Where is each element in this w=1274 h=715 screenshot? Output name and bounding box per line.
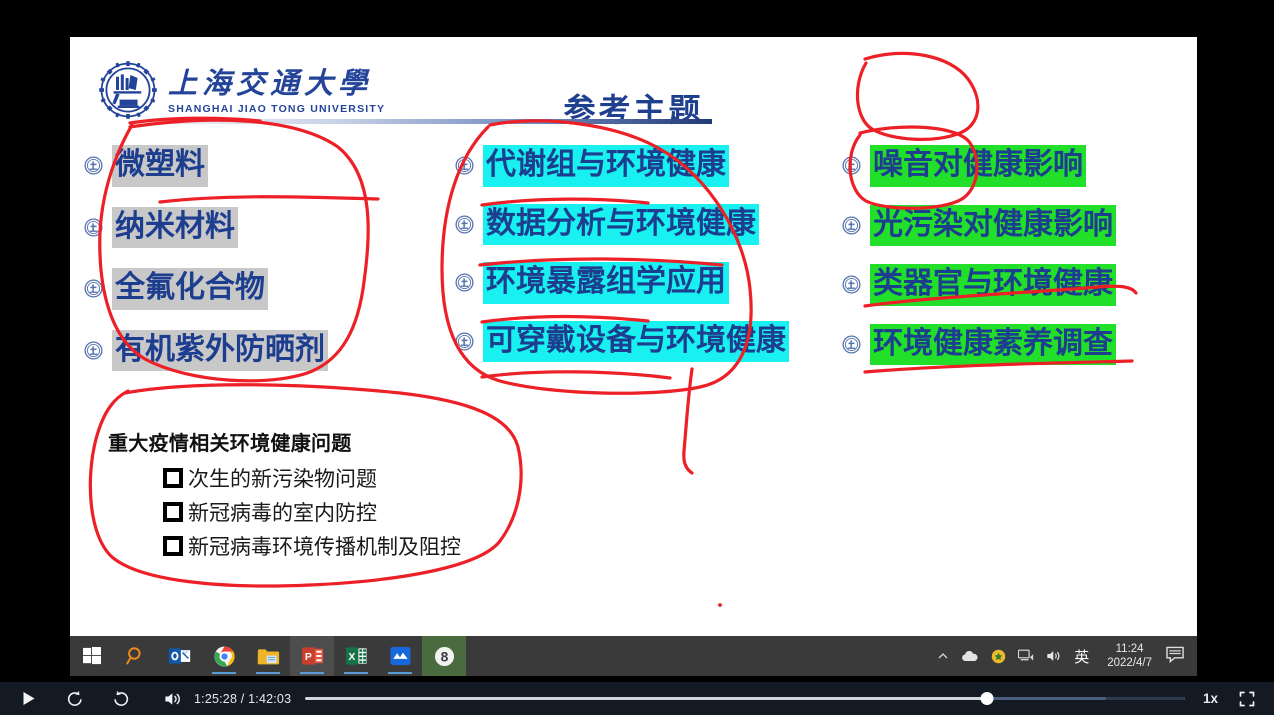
topic-item[interactable]: 纳米材料	[84, 207, 414, 249]
network-icon	[1018, 649, 1034, 663]
search-button[interactable]	[114, 636, 158, 676]
file-explorer-button[interactable]	[246, 636, 290, 676]
mountain-app-icon	[390, 646, 411, 666]
topic-label: 全氟化合物	[112, 268, 268, 310]
svg-text:X: X	[348, 652, 355, 663]
sjtu-bullet-icon	[842, 335, 861, 354]
topic-label: 有机紫外防晒剂	[112, 330, 328, 372]
forward-10-button[interactable]	[106, 684, 136, 714]
tray-overflow-button[interactable]	[937, 650, 949, 662]
video-player-page: 上海交通大學 SHANGHAI JIAO TONG UNIVERSITY 参考主…	[0, 0, 1274, 715]
clock-time: 11:24	[1107, 642, 1152, 656]
topic-item[interactable]: 光污染对健康影响	[842, 205, 1192, 247]
topic-item[interactable]: 环境健康素养调查	[842, 324, 1192, 366]
sjtu-bullet-icon	[84, 156, 103, 175]
onedrive-button[interactable]	[961, 650, 979, 663]
play-icon	[22, 691, 36, 706]
forward-icon	[112, 690, 130, 708]
topic-column-middle: 代谢组与环境健康 数据分析与环境健康 环境暴露组学应用 可穿戴设备与环境健康	[455, 145, 835, 379]
topic-label: 类器官与环境健康	[870, 264, 1116, 306]
network-button[interactable]	[1018, 649, 1034, 663]
windows-taskbar: P X	[70, 636, 1197, 676]
wps-button[interactable]	[378, 636, 422, 676]
presentation-slide: 上海交通大學 SHANGHAI JIAO TONG UNIVERSITY 参考主…	[70, 37, 1197, 636]
sjtu-bullet-icon	[84, 341, 103, 360]
video-player-controls: 1:25:28 / 1:42:03 1x	[0, 682, 1274, 715]
topic-item[interactable]: 环境暴露组学应用	[455, 262, 835, 304]
sjtu-bullet-icon	[455, 215, 474, 234]
block-heading: 重大疫情相关环境健康问题	[108, 427, 548, 456]
excel-icon: X	[346, 646, 367, 666]
checklist-label: 新冠病毒环境传播机制及阻控	[188, 531, 461, 561]
action-center-icon	[1166, 646, 1185, 663]
topic-item[interactable]: 有机紫外防晒剂	[84, 330, 414, 372]
checklist-label: 新冠病毒的室内防控	[188, 497, 377, 527]
sjtu-bullet-icon	[842, 275, 861, 294]
svg-text:8: 8	[440, 648, 448, 664]
topic-item[interactable]: 数据分析与环境健康	[455, 204, 835, 246]
volume-button[interactable]	[1046, 649, 1062, 663]
progress-track-buffered	[987, 697, 1106, 700]
search-icon	[126, 646, 146, 666]
cloud-icon	[961, 650, 979, 663]
chevron-up-icon	[937, 650, 949, 662]
windows-logo-icon	[83, 647, 101, 665]
topic-label: 环境健康素养调查	[870, 324, 1116, 366]
checkbox-icon	[163, 502, 183, 522]
checklist-item[interactable]: 新冠病毒的室内防控	[163, 497, 548, 527]
checklist-item[interactable]: 次生的新污染物问题	[163, 463, 548, 493]
folder-icon	[257, 647, 280, 666]
svg-text:P: P	[304, 652, 311, 663]
topic-item[interactable]: 类器官与环境健康	[842, 264, 1192, 306]
fullscreen-icon	[1239, 691, 1255, 707]
progress-scrubber[interactable]	[305, 684, 1185, 714]
ime-indicator[interactable]: 英	[1074, 646, 1089, 667]
topic-item[interactable]: 全氟化合物	[84, 268, 414, 310]
topic-label: 噪音对健康影响	[870, 145, 1086, 187]
rewind-10-button[interactable]	[60, 684, 90, 714]
volume-icon	[164, 691, 182, 707]
topic-label: 光污染对健康影响	[870, 205, 1116, 247]
update-icon	[991, 649, 1006, 664]
play-button[interactable]	[14, 684, 44, 714]
checkbox-icon	[163, 468, 183, 488]
progress-handle[interactable]	[981, 692, 994, 705]
sjtu-bullet-icon	[84, 279, 103, 298]
slide-title: 参考主题	[70, 85, 1197, 131]
number-eight-icon: 8	[434, 646, 455, 667]
update-button[interactable]	[991, 649, 1006, 664]
pandemic-topics-block: 重大疫情相关环境健康问题 次生的新污染物问题 新冠病毒的室内防控 新冠病毒环境传…	[108, 427, 548, 565]
header-divider	[132, 119, 712, 124]
clock[interactable]: 11:24 2022/4/7	[1107, 642, 1152, 670]
sjtu-bullet-icon	[455, 156, 474, 175]
checklist-label: 次生的新污染物问题	[188, 463, 377, 493]
time-display: 1:25:28 / 1:42:03	[194, 692, 291, 706]
system-tray: 英 11:24 2022/4/7	[931, 636, 1197, 676]
rewind-icon	[66, 690, 84, 708]
topic-label: 微塑料	[112, 145, 208, 187]
volume-icon	[1046, 649, 1062, 663]
volume-button[interactable]	[158, 684, 188, 714]
chrome-icon	[214, 646, 235, 667]
topic-label: 纳米材料	[112, 207, 238, 249]
fullscreen-button[interactable]	[1234, 686, 1260, 712]
checkbox-icon	[163, 536, 183, 556]
topic-label: 数据分析与环境健康	[483, 204, 759, 246]
topic-label: 代谢组与环境健康	[483, 145, 729, 187]
sjtu-bullet-icon	[842, 156, 861, 175]
topic-item[interactable]: 代谢组与环境健康	[455, 145, 835, 187]
action-center-button[interactable]	[1166, 646, 1185, 666]
topic-label: 环境暴露组学应用	[483, 262, 729, 304]
sjtu-bullet-icon	[455, 273, 474, 292]
checklist-item[interactable]: 新冠病毒环境传播机制及阻控	[163, 531, 548, 561]
topic-item[interactable]: 可穿戴设备与环境健康	[455, 321, 835, 363]
start-button[interactable]	[70, 636, 114, 676]
sjtu-bullet-icon	[455, 332, 474, 351]
chrome-button[interactable]	[202, 636, 246, 676]
topic-label: 可穿戴设备与环境健康	[483, 321, 789, 363]
topic-column-left: 微塑料 纳米材料 全氟化合物 有机紫外防晒剂	[84, 145, 414, 391]
powerpoint-button[interactable]: P	[290, 636, 334, 676]
outlook-icon	[169, 647, 191, 665]
powerpoint-icon: P	[302, 646, 323, 666]
excel-button[interactable]: X	[334, 636, 378, 676]
topic-column-right: 噪音对健康影响 光污染对健康影响 类器官与环境健康 环境健康素养调查	[842, 145, 1192, 383]
sjtu-bullet-icon	[842, 216, 861, 235]
topic-item[interactable]: 微塑料	[84, 145, 414, 187]
playback-speed-button[interactable]: 1x	[1203, 691, 1218, 706]
clock-date: 2022/4/7	[1107, 656, 1152, 670]
topic-item[interactable]: 噪音对健康影响	[842, 145, 1192, 187]
outlook-button[interactable]	[158, 636, 202, 676]
sjtu-bullet-icon	[84, 218, 103, 237]
meeting-button[interactable]: 8	[422, 636, 466, 676]
